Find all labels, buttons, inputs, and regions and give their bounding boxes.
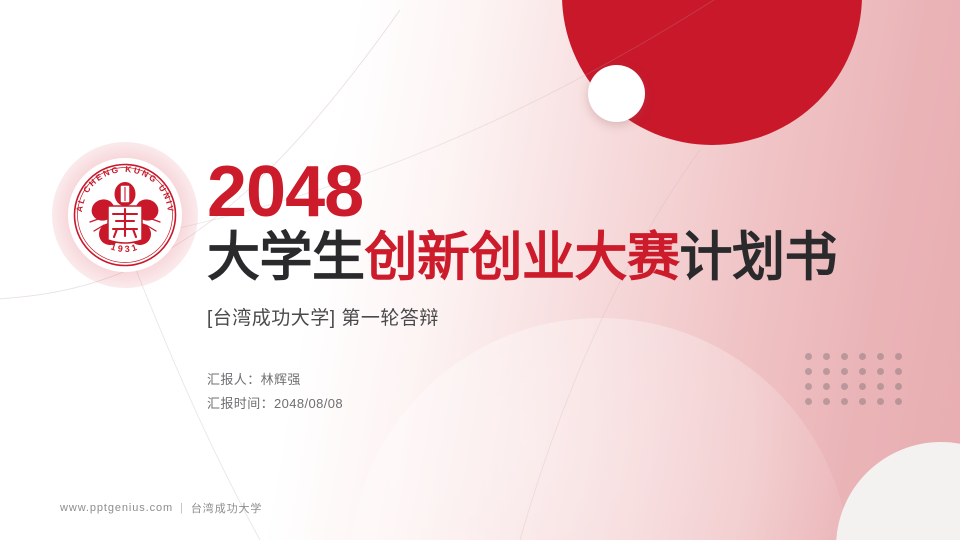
grid-dot [841, 398, 848, 405]
year-heading: 2048 [207, 158, 847, 226]
grid-dot [877, 353, 884, 360]
grid-dot [895, 383, 902, 390]
grid-dot [877, 398, 884, 405]
footer-organization: 台湾成功大学 [191, 500, 262, 516]
dot-grid-decoration [805, 353, 913, 413]
grid-dot [805, 383, 812, 390]
presentation-meta: 汇报人：林辉强 汇报时间：2048/08/08 [207, 368, 343, 416]
soft-pink-gradient-circle [350, 318, 850, 540]
footer-separator: | [180, 502, 184, 514]
grid-dot [859, 353, 866, 360]
grid-dot [841, 368, 848, 375]
grid-dot [805, 368, 812, 375]
subtitle: [台湾成功大学] 第一轮答辩 [207, 303, 847, 330]
grid-dot [823, 368, 830, 375]
grid-dot [841, 383, 848, 390]
grid-dot [841, 353, 848, 360]
grid-dot [895, 368, 902, 375]
grid-dot [823, 383, 830, 390]
university-crest-icon: NATIONAL CHENG KUNG UNIVERSITY 1931 [68, 158, 182, 272]
grid-dot [895, 353, 902, 360]
white-accent-circle [588, 65, 645, 122]
footer-website: www.pptgenius.com [60, 502, 173, 514]
grid-dot [823, 398, 830, 405]
main-headline: 大学生创新创业大赛计划书 [207, 230, 847, 286]
presentation-title-slide: NATIONAL CHENG KUNG UNIVERSITY 1931 [0, 0, 960, 540]
university-logo: NATIONAL CHENG KUNG UNIVERSITY 1931 [68, 158, 182, 272]
date-line: 汇报时间：2048/08/08 [207, 392, 343, 416]
bottom-right-white-circle [836, 442, 960, 540]
grid-dot [877, 383, 884, 390]
title-text-block: 2048 大学生创新创业大赛计划书 [台湾成功大学] 第一轮答辩 [207, 158, 847, 330]
headline-part-1: 大学生 [207, 228, 365, 287]
headline-part-3: 计划书 [680, 228, 838, 287]
slide-footer: www.pptgenius.com | 台湾成功大学 [60, 500, 262, 516]
grid-dot [895, 398, 902, 405]
grid-dot [805, 398, 812, 405]
grid-dot [823, 353, 830, 360]
grid-dot [877, 368, 884, 375]
red-accent-circle [562, 0, 862, 145]
grid-dot [859, 368, 866, 375]
grid-dot [859, 398, 866, 405]
headline-part-2: 创新创业大赛 [365, 228, 680, 287]
grid-dot [805, 353, 812, 360]
grid-dot [859, 383, 866, 390]
presenter-line: 汇报人：林辉强 [207, 368, 343, 392]
